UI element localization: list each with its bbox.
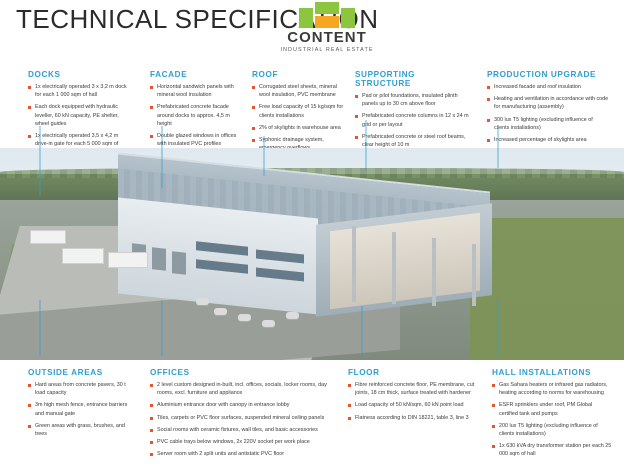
- section-heading: HALL INSTALLATIONS: [492, 368, 612, 377]
- section-heading: FACADE: [150, 70, 242, 79]
- list-item: Tiles, carpets or PVC floor surfaces, su…: [150, 414, 330, 422]
- list-item: Flatness according to DIN 18221, table 3…: [348, 414, 484, 422]
- list-item: Increased percentage of skylights area: [487, 136, 609, 144]
- list-item: Each dock equipped with hydraulic levell…: [28, 103, 128, 128]
- section-list: Pad or pilot foundations, insulated plin…: [355, 92, 473, 149]
- list-item: Prefabricated concrete facade around doc…: [150, 103, 242, 128]
- steel-column: [432, 238, 436, 306]
- list-item: 2 level custom designed in-built, incl. …: [150, 381, 330, 397]
- section-heading: PRODUCTION UPGRADE: [487, 70, 609, 79]
- list-item: Prefabricated concrete or steel roof bea…: [355, 133, 473, 149]
- list-item: Pad or pilot foundations, insulated plin…: [355, 92, 473, 108]
- section-list: 2 level custom designed in-built, incl. …: [150, 381, 330, 458]
- list-item: Increased facade and roof insulation: [487, 83, 609, 91]
- section-hall-installations: HALL INSTALLATIONS Gas Sahara heaters or…: [492, 368, 612, 463]
- section-heading: ROOF: [252, 70, 344, 79]
- section-roof: ROOF Corrugated steel sheets, mineral wo…: [252, 70, 344, 156]
- section-floor: FLOOR Fibre reinforced concrete floor, P…: [348, 368, 484, 426]
- list-item: ESFR sprinklers under roof, PM Global ce…: [492, 401, 612, 417]
- steel-column: [392, 232, 396, 304]
- car: [214, 308, 227, 315]
- section-list: Gas Sahara heaters or infrared gas radia…: [492, 381, 612, 459]
- section-offices: OFFICES 2 level custom designed in-built…: [150, 368, 330, 462]
- list-item: 3m high mesh fence, entrance barriers an…: [28, 401, 132, 417]
- dock-door: [172, 251, 186, 274]
- list-item: 2% of skylights in warehouse area: [252, 124, 344, 132]
- car: [286, 312, 299, 319]
- dock-door: [152, 247, 166, 270]
- section-list: Hard areas from concrete pavers, 30 t lo…: [28, 381, 132, 438]
- section-list: Fibre reinforced concrete floor, PE memb…: [348, 381, 484, 422]
- section-outside-areas: OUTSIDE AREAS Hard areas from concrete p…: [28, 368, 132, 442]
- section-production-upgrade: PRODUCTION UPGRADE Increased facade and …: [487, 70, 609, 148]
- list-item: 300 lux T5 lighting (excluding influence…: [487, 116, 609, 132]
- steel-column: [352, 226, 356, 302]
- list-item: Heating and ventilation in accordance wi…: [487, 95, 609, 111]
- list-item: 1x 630 kVA dry transformer station per e…: [492, 442, 612, 458]
- logo: CONTENT INDUSTRIAL REAL ESTATE: [272, 2, 382, 60]
- section-list: Increased facade and roof insulation Hea…: [487, 83, 609, 144]
- truck: [30, 230, 66, 244]
- section-facade: FACADE Horizontal sandwich panels with m…: [150, 70, 242, 152]
- truck: [108, 252, 148, 268]
- list-item: Aluminium entrance door with canopy in e…: [150, 401, 330, 409]
- list-item: Fibre reinforced concrete floor, PE memb…: [348, 381, 484, 397]
- section-heading: OFFICES: [150, 368, 330, 377]
- list-item: Hard areas from concrete pavers, 30 t lo…: [28, 381, 132, 397]
- list-item: Free load capacity of 15 kg/sqm for clie…: [252, 103, 344, 119]
- list-item: Social rooms with ceramic fixtures, wall…: [150, 426, 330, 434]
- list-item: Server room with 2 split units and antis…: [150, 450, 330, 458]
- list-item: Horizontal sandwich panels with mineral …: [150, 83, 242, 99]
- list-item: 200 lux T5 lighting (excluding influence…: [492, 422, 612, 438]
- section-heading: SUPPORTING STRUCTURE: [355, 70, 473, 88]
- list-item: Double glazed windows in offices with in…: [150, 132, 242, 148]
- section-heading: OUTSIDE AREAS: [28, 368, 132, 377]
- building-rendering-image: [0, 148, 624, 364]
- list-item: Gas Sahara heaters or infrared gas radia…: [492, 381, 612, 397]
- logo-mark-icon: [299, 2, 355, 28]
- section-heading: FLOOR: [348, 368, 484, 377]
- list-item: PVC cable trays below windows, 2x 220V s…: [150, 438, 330, 446]
- list-item: Load capacity of 50 kN/sqm, 60 kN point …: [348, 401, 484, 409]
- list-item: Green areas with grass, brushes, and tre…: [28, 422, 132, 438]
- section-supporting-structure: SUPPORTING STRUCTURE Pad or pilot founda…: [355, 70, 473, 153]
- list-item: Prefabricated concrete columns in 12 x 2…: [355, 112, 473, 128]
- logo-name: CONTENT: [272, 30, 382, 45]
- section-list: Horizontal sandwich panels with mineral …: [150, 83, 242, 148]
- steel-column: [472, 244, 476, 306]
- list-item: 1x electrically operated 3 x 3,2 m dock …: [28, 83, 128, 99]
- section-heading: DOCKS: [28, 70, 128, 79]
- list-item: Corrugated steel sheets, mineral wool in…: [252, 83, 344, 99]
- lawn-right: [470, 218, 624, 364]
- truck: [62, 248, 104, 264]
- car: [262, 320, 275, 327]
- logo-tagline: INDUSTRIAL REAL ESTATE: [272, 47, 382, 53]
- technical-specification-page: TECHNICAL SPECIFICATION CONTENT INDUSTRI…: [0, 0, 624, 468]
- car: [238, 314, 251, 321]
- section-list: 1x electrically operated 3 x 3,2 m dock …: [28, 83, 128, 157]
- car: [196, 298, 209, 305]
- section-list: Corrugated steel sheets, mineral wool in…: [252, 83, 344, 152]
